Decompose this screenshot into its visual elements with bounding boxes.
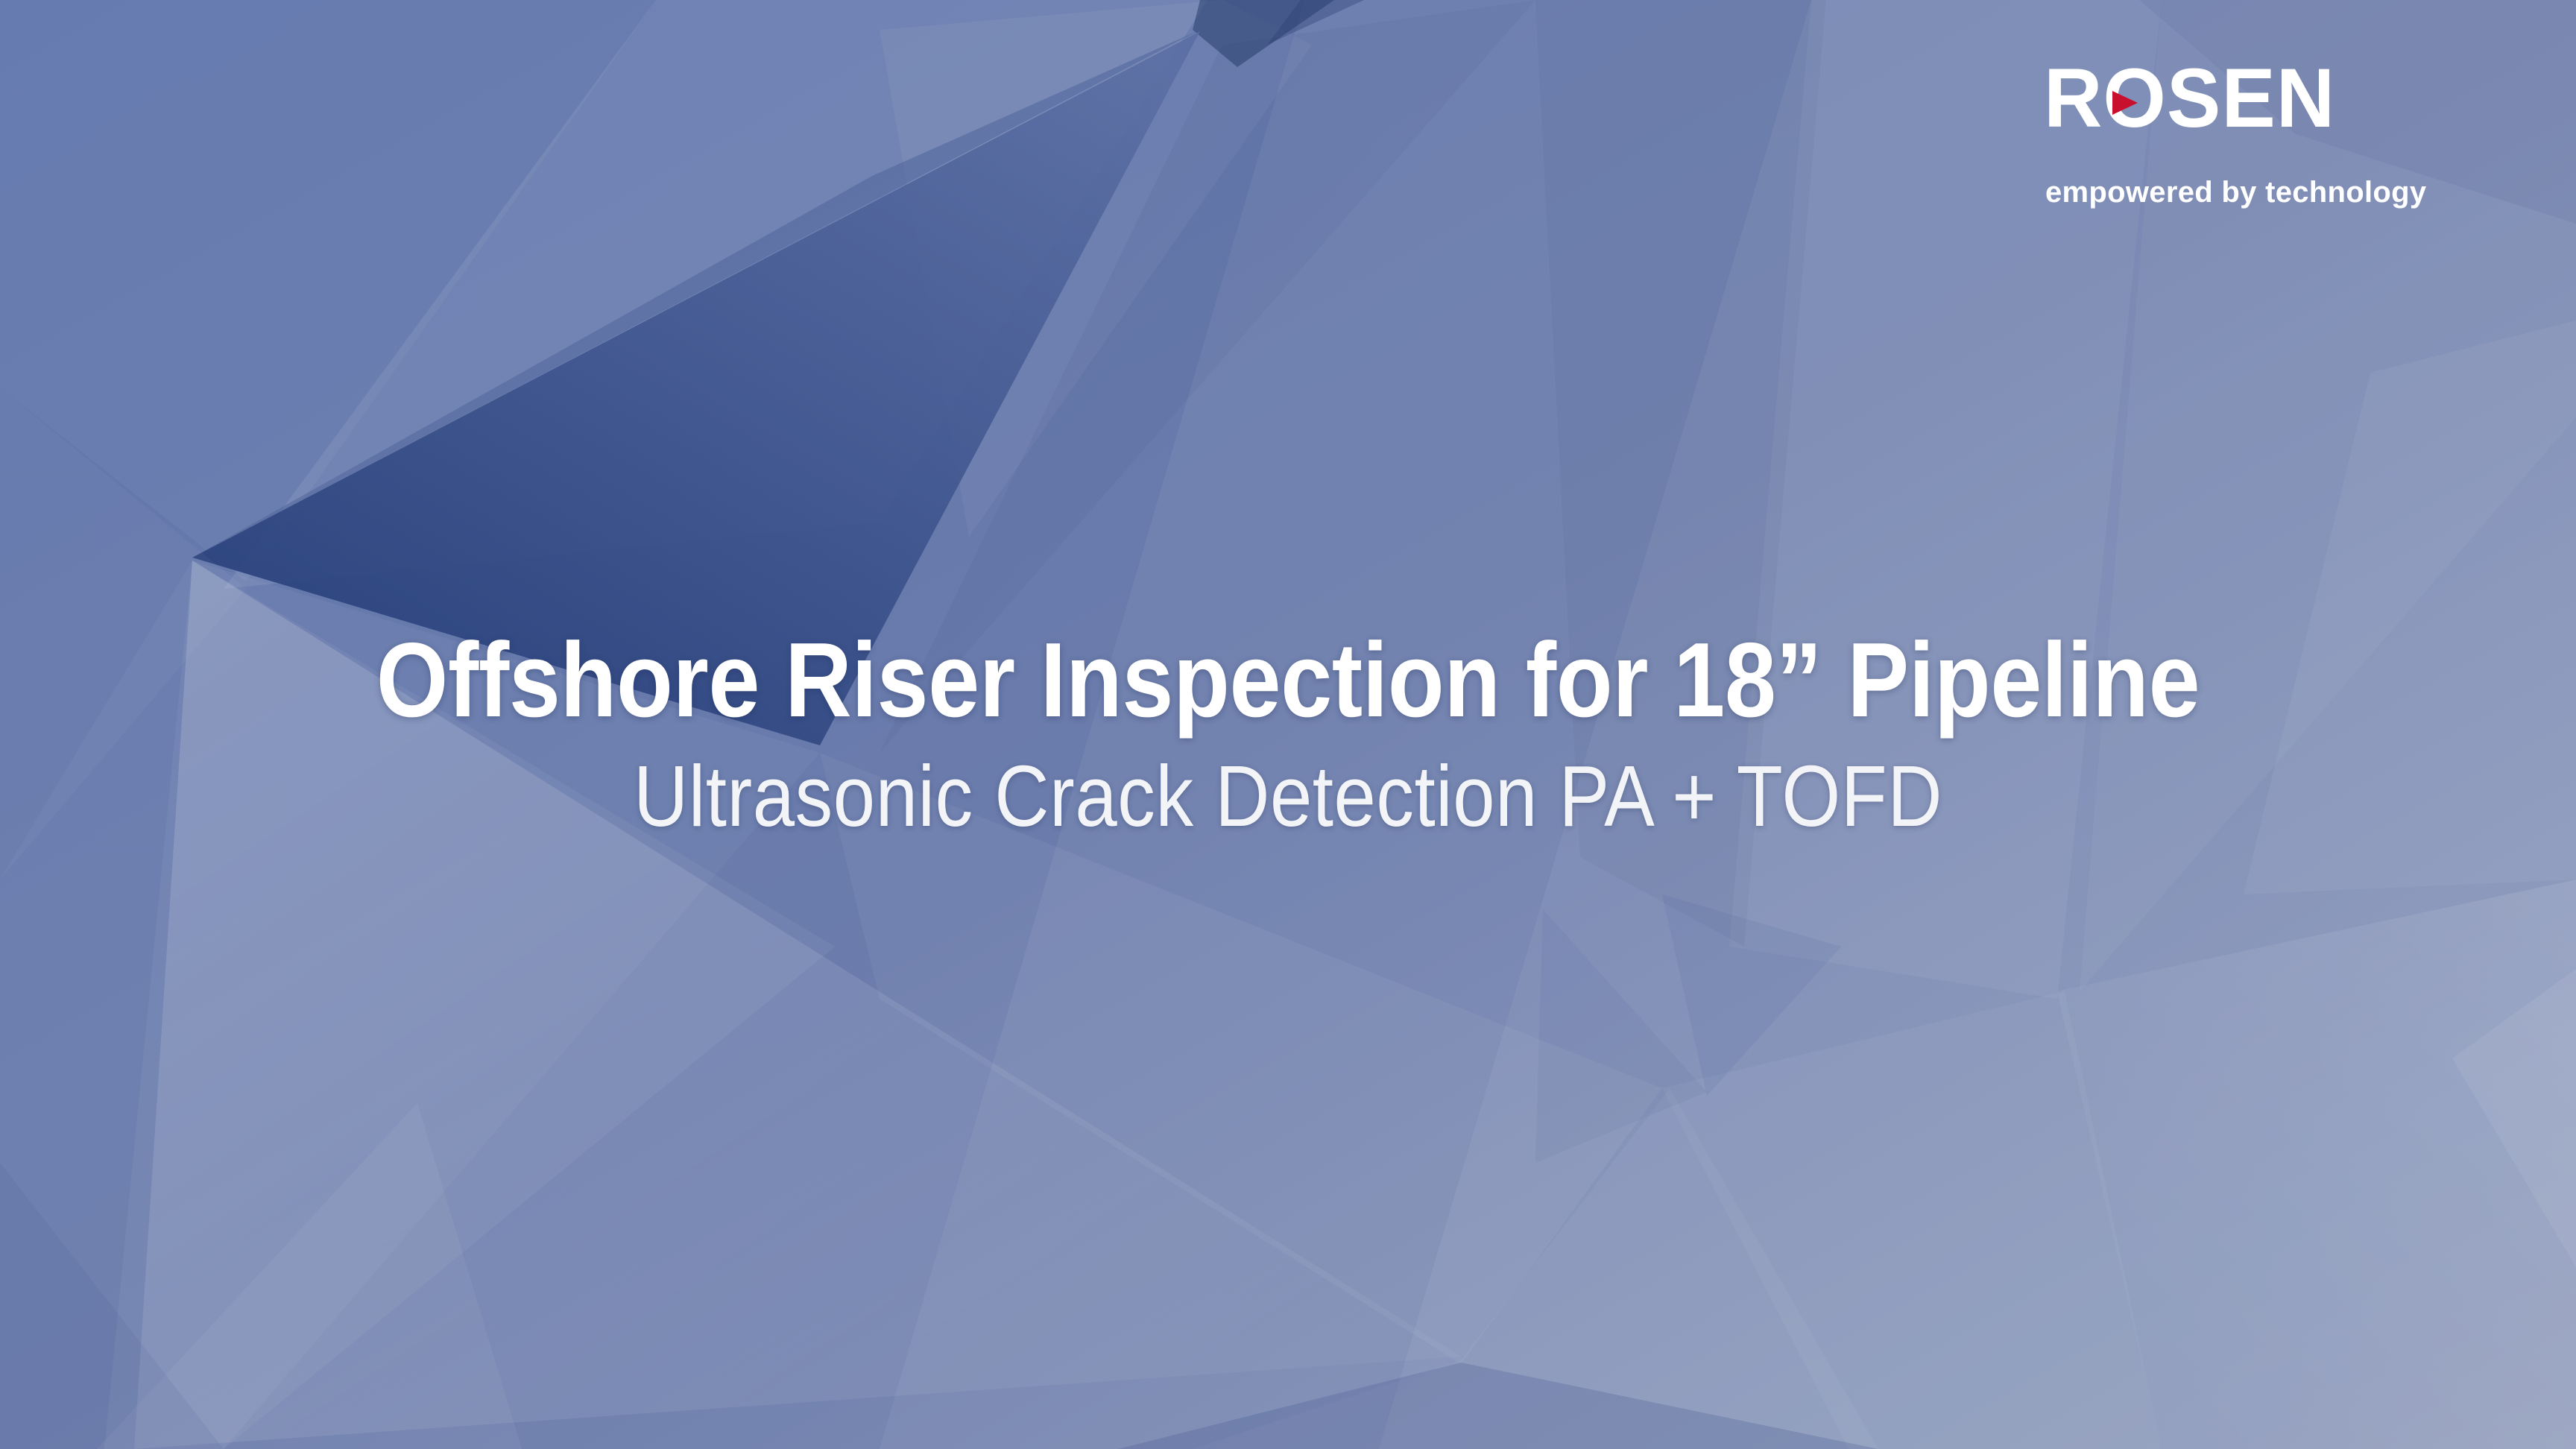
rosen-wordmark-svg: ROSEN [2044, 58, 2394, 142]
logo-wordmark-text: ROSEN [2044, 58, 2335, 142]
logo-wordmark: ROSEN [2044, 58, 2394, 142]
logo-tagline: empowered by technology [2045, 176, 2394, 209]
title-slide: ROSEN empowered by technology Offshore R… [0, 0, 2576, 1449]
page-subtitle: Ultrasonic Crack Detection PA + TOFD [161, 753, 2415, 839]
headline-block: Offshore Riser Inspection for 18” Pipeli… [0, 628, 2576, 839]
page-title: Offshore Riser Inspection for 18” Pipeli… [161, 628, 2415, 733]
rosen-logo: ROSEN empowered by technology [2044, 58, 2394, 218]
